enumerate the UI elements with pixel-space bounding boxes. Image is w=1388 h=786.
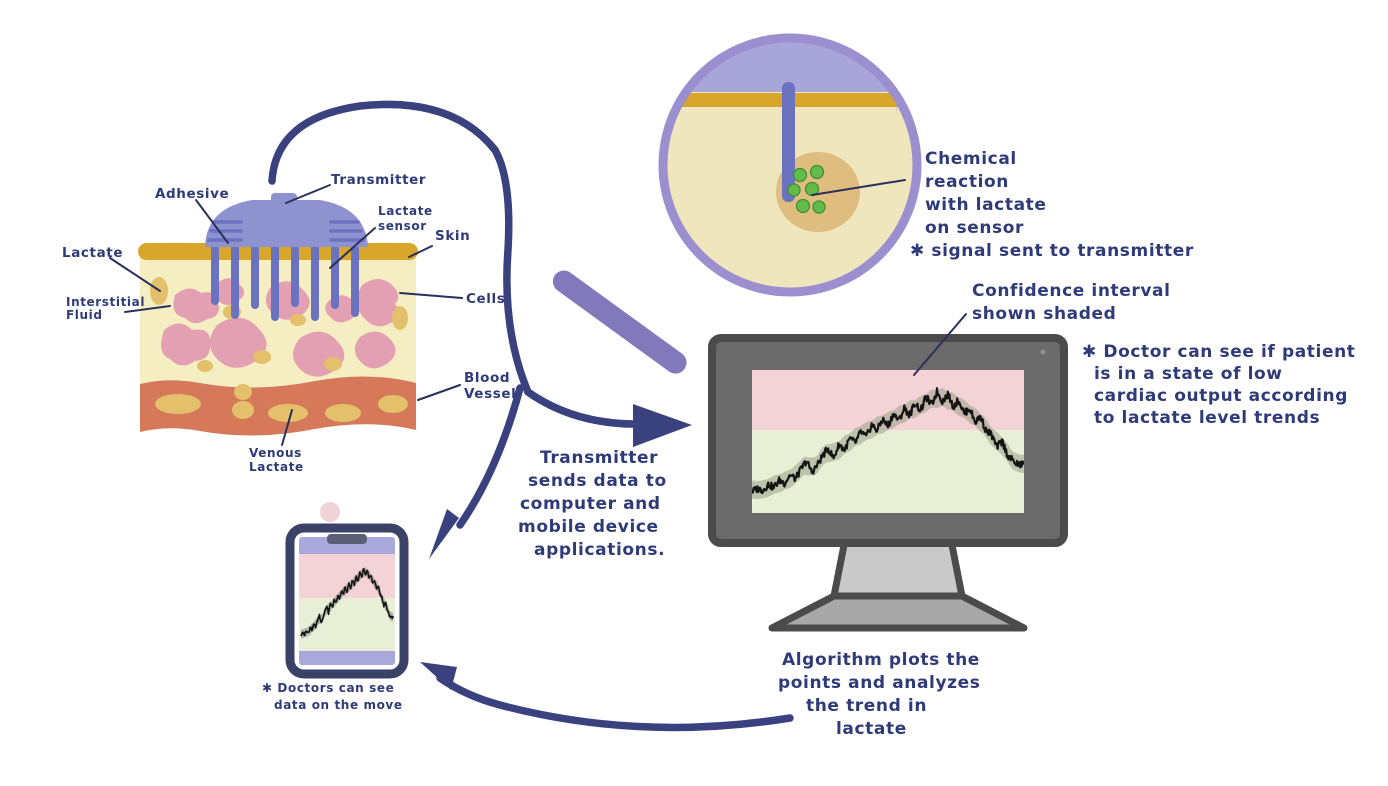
phone-caption-line2: data on the move xyxy=(274,698,403,712)
confidence-note-line1: Confidence interval xyxy=(972,281,1171,301)
doctor-note-line3: cardiac output according xyxy=(1094,386,1348,406)
diagram-canvas: Adhesive Transmitter Lactate sensor Skin… xyxy=(0,0,1388,786)
label-lactate: Lactate xyxy=(62,245,123,261)
label-blood-vessel-line2: Vessel xyxy=(464,386,516,402)
label-venous-lactate-line1: Venous xyxy=(249,446,302,460)
label-venous-lactate-line2: Lactate xyxy=(249,460,304,474)
algorithm-note-line4: lactate xyxy=(836,719,907,739)
flow-note-line3: computer and xyxy=(520,494,661,514)
algorithm-note-line1: Algorithm plots the xyxy=(782,650,980,670)
flow-note-line2: sends data to xyxy=(528,471,667,491)
doctor-note-line1: ✱ Doctor can see if patient xyxy=(1082,342,1356,362)
label-interstitial-line2: Fluid xyxy=(66,308,103,322)
algorithm-note-line3: the trend in xyxy=(806,696,927,716)
label-skin: Skin xyxy=(435,228,470,244)
magnifier-note-line2: reaction xyxy=(925,172,1009,192)
label-transmitter: Transmitter xyxy=(331,172,426,188)
magnifier-note-line5: ✱ signal sent to transmitter xyxy=(910,241,1194,261)
algorithm-note-line2: points and analyzes xyxy=(778,673,981,693)
magnifier-note-line3: with lactate xyxy=(925,195,1047,215)
magnifier-note-line1: Chemical xyxy=(925,149,1017,169)
label-interstitial-line1: Interstitial xyxy=(66,295,145,309)
flow-note-line4: mobile device xyxy=(518,517,659,537)
doctor-note-line4: to lactate level trends xyxy=(1094,408,1320,428)
phone-caption-line1: ✱ Doctors can see xyxy=(262,681,394,695)
label-adhesive: Adhesive xyxy=(155,186,229,202)
confidence-note-line2: shown shaded xyxy=(972,304,1116,324)
label-lactate-sensor-line2: sensor xyxy=(378,219,427,233)
label-cells: Cells xyxy=(466,291,505,307)
magnifier-note-line4: on sensor xyxy=(925,218,1024,238)
text-layer: Adhesive Transmitter Lactate sensor Skin… xyxy=(0,0,1388,786)
doctor-note-line2: is in a state of low xyxy=(1094,364,1283,384)
flow-note-line1: Transmitter xyxy=(540,448,658,468)
label-blood-vessel-line1: Blood xyxy=(464,370,510,386)
label-lactate-sensor-line1: Lactate xyxy=(378,204,433,218)
flow-note-line5: applications. xyxy=(534,540,665,560)
